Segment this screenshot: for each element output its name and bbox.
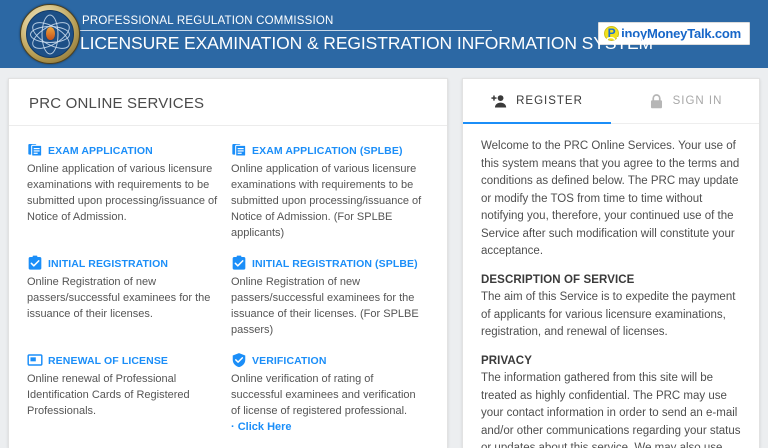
tab-label: REGISTER — [516, 95, 583, 107]
service-initial-registration[interactable]: INITIAL REGISTRATION Online Registration… — [27, 255, 225, 338]
tab-label: SIGN IN — [673, 95, 723, 107]
service-title[interactable]: VERIFICATION — [252, 355, 327, 368]
tab-sign-in[interactable]: SIGN IN — [611, 79, 759, 123]
section-heading: DESCRIPTION OF SERVICE — [481, 272, 741, 290]
verification-click-here-link[interactable]: · Click Here — [231, 419, 423, 435]
bullet: · — [231, 421, 235, 433]
section-heading: PRIVACY — [481, 353, 741, 371]
terms-of-service: Welcome to the PRC Online Services. Your… — [463, 124, 759, 448]
shield-check-icon — [231, 352, 247, 368]
service-description: Online Registration of new passers/succe… — [231, 274, 423, 338]
service-description: Online verification of rating of success… — [231, 371, 423, 419]
clipboard-check-icon — [231, 255, 247, 271]
site-header: PROFESSIONAL REGULATION COMMISSION LICEN… — [0, 0, 768, 68]
service-exam-application-splbe[interactable]: EXAM APPLICATION (SPLBE) Online applicat… — [231, 142, 429, 241]
org-name: PROFESSIONAL REGULATION COMMISSION — [80, 14, 653, 28]
document-list-icon — [231, 142, 247, 158]
section-body: The aim of this Service is to expedite t… — [481, 289, 741, 342]
tos-section-privacy: PRIVACY The information gathered from th… — [481, 353, 741, 448]
person-add-icon — [491, 93, 508, 110]
service-title[interactable]: EXAM APPLICATION (SPLBE) — [252, 145, 403, 158]
services-panel-header: PRC ONLINE SERVICES — [9, 79, 447, 126]
id-card-icon — [27, 352, 43, 368]
services-grid: EXAM APPLICATION Online application of v… — [9, 126, 447, 435]
header-titles: PROFESSIONAL REGULATION COMMISSION LICEN… — [74, 14, 653, 54]
prc-leris-page: PROFESSIONAL REGULATION COMMISSION LICEN… — [0, 0, 768, 448]
lock-icon — [648, 93, 665, 110]
prc-seal-icon — [20, 4, 80, 64]
service-title[interactable]: EXAM APPLICATION — [48, 145, 153, 158]
service-title[interactable]: INITIAL REGISTRATION — [48, 258, 168, 271]
service-renewal-of-license[interactable]: RENEWAL OF LICENSE Online renewal of Pro… — [27, 352, 225, 435]
header-divider — [80, 30, 492, 31]
service-exam-application[interactable]: EXAM APPLICATION Online application of v… — [27, 142, 225, 241]
tos-section-description: DESCRIPTION OF SERVICE The aim of this S… — [481, 272, 741, 342]
link-label: Click Here — [238, 421, 292, 433]
system-name: LICENSURE EXAMINATION & REGISTRATION INF… — [80, 33, 653, 54]
section-body: The information gathered from this site … — [481, 370, 741, 448]
service-title[interactable]: INITIAL REGISTRATION (SPLBE) — [252, 258, 418, 271]
document-list-icon — [27, 142, 43, 158]
tab-register[interactable]: REGISTER — [463, 79, 611, 123]
auth-tabs: REGISTER SIGN IN — [463, 79, 759, 124]
auth-panel: REGISTER SIGN IN Welcome to the PRC Onli… — [462, 78, 760, 448]
service-description: Online renewal of Professional Identific… — [27, 371, 219, 419]
service-title[interactable]: RENEWAL OF LICENSE — [48, 355, 168, 368]
page-content: PRC ONLINE SERVICES EXAM APPLICATION — [0, 68, 768, 448]
service-initial-registration-splbe[interactable]: INITIAL REGISTRATION (SPLBE) Online Regi… — [231, 255, 429, 338]
tos-intro: Welcome to the PRC Online Services. Your… — [481, 138, 741, 261]
services-panel: PRC ONLINE SERVICES EXAM APPLICATION — [8, 78, 448, 448]
service-description: Online application of various licensure … — [231, 161, 423, 241]
service-verification[interactable]: VERIFICATION Online verification of rati… — [231, 352, 429, 435]
clipboard-check-icon — [27, 255, 43, 271]
service-description: Online application of various licensure … — [27, 161, 219, 225]
service-description: Online Registration of new passers/succe… — [27, 274, 219, 322]
page-title: PRC ONLINE SERVICES — [29, 95, 427, 112]
